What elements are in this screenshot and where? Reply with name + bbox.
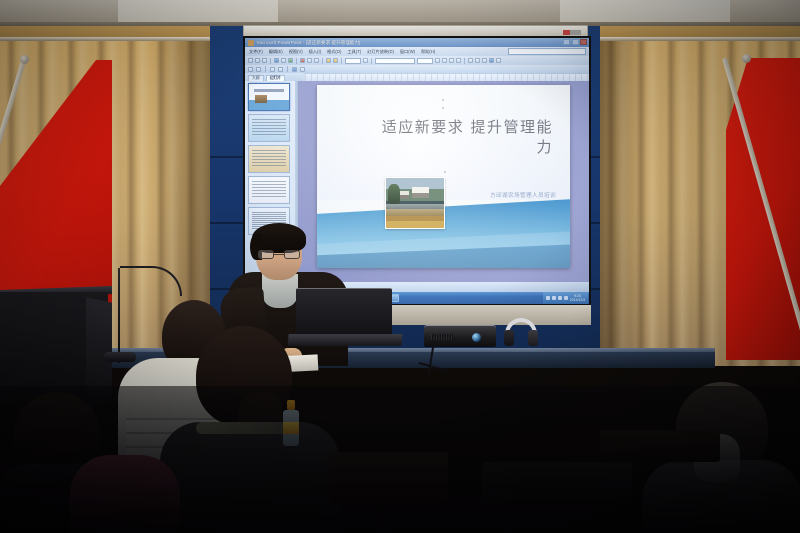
current-slide[interactable]: 适应新要求 提升管理能 力 方邱湖农场管理人员培训 xyxy=(317,85,570,268)
chair-leg xyxy=(378,500,386,533)
audience-member-pink xyxy=(70,455,180,533)
menu-tools[interactable]: 工具(T) xyxy=(347,49,361,55)
chair-back-center xyxy=(330,452,448,504)
slide-thumbnail-2[interactable]: 2 xyxy=(248,114,290,142)
decrease-font-icon[interactable] xyxy=(256,67,261,72)
cut-icon[interactable] xyxy=(300,58,305,63)
window-controls[interactable] xyxy=(563,39,587,45)
design-icon[interactable] xyxy=(300,67,305,72)
align-right-icon[interactable] xyxy=(482,58,487,63)
bullets-icon[interactable] xyxy=(489,58,494,63)
water-bottle xyxy=(283,400,299,446)
menu-edit[interactable]: 编辑(E) xyxy=(269,49,283,55)
font-size-combo[interactable] xyxy=(417,58,433,64)
help-icon[interactable] xyxy=(363,58,368,63)
menu-view[interactable]: 视图(V) xyxy=(289,49,303,55)
standard-toolbar[interactable] xyxy=(245,56,589,65)
open-icon[interactable] xyxy=(255,58,260,63)
powerpoint-app-icon xyxy=(248,40,254,46)
bold-icon[interactable] xyxy=(435,58,440,63)
minimize-button[interactable] xyxy=(563,39,570,45)
print-icon[interactable] xyxy=(274,58,279,63)
projector-vent xyxy=(431,334,453,340)
promote-icon[interactable] xyxy=(270,67,275,72)
clock-date: 2014/12/3 xyxy=(570,298,585,302)
window-title: Microsoft PowerPoint - [适应新要求 提升管理能力] xyxy=(257,40,360,46)
help-search-input[interactable] xyxy=(508,48,586,55)
outline-slide-tabs[interactable]: 大纲 幻灯片 xyxy=(245,73,303,81)
podium-side-panel xyxy=(86,297,112,399)
tray-volume-icon[interactable] xyxy=(552,296,556,300)
align-center-icon[interactable] xyxy=(475,58,480,63)
formatting-toolbar-row[interactable] xyxy=(245,65,589,73)
chair-back-right xyxy=(482,462,632,508)
menu-slideshow[interactable]: 幻灯片放映(D) xyxy=(367,49,394,55)
numbering-icon[interactable] xyxy=(496,58,501,63)
undo-icon[interactable] xyxy=(326,58,331,63)
save-icon[interactable] xyxy=(262,58,267,63)
menu-format[interactable]: 格式(O) xyxy=(327,49,341,55)
slide-photo[interactable] xyxy=(385,177,445,229)
slide-subtitle-text[interactable]: 方邱湖农场管理人员培训 xyxy=(490,191,556,199)
screenshot-scene: Microsoft PowerPoint - [适应新要求 提升管理能力] 文件… xyxy=(0,0,800,533)
chair-back-far-right xyxy=(600,430,720,462)
redo-icon[interactable] xyxy=(333,58,338,63)
slide-title-text[interactable]: 适应新要求 提升管理能 力 xyxy=(335,117,553,157)
shadow-icon[interactable] xyxy=(456,58,461,63)
new-icon[interactable] xyxy=(248,58,253,63)
underline-icon[interactable] xyxy=(449,58,454,63)
presenter-glasses xyxy=(258,250,300,259)
flag-right xyxy=(726,58,800,360)
projector xyxy=(424,325,496,347)
tray-shield-icon[interactable] xyxy=(558,296,562,300)
slide-thumbnail-4[interactable]: 4 xyxy=(248,176,290,204)
close-button[interactable] xyxy=(580,39,587,45)
paste-icon[interactable] xyxy=(314,58,319,63)
menu-window[interactable]: 窗口(W) xyxy=(400,49,415,55)
tray-network-icon[interactable] xyxy=(546,296,550,300)
print-preview-icon[interactable] xyxy=(281,58,286,63)
italic-icon[interactable] xyxy=(442,58,447,63)
horizontal-ruler xyxy=(305,73,589,81)
increase-font-icon[interactable] xyxy=(248,67,253,72)
zoom-combo[interactable] xyxy=(345,58,361,64)
spellcheck-icon[interactable] xyxy=(288,58,293,63)
tray-input-icon[interactable] xyxy=(564,296,568,300)
menu-help[interactable]: 帮助(H) xyxy=(421,49,435,55)
font-name-combo[interactable] xyxy=(375,58,415,64)
system-tray[interactable]: 9:25 2014/12/3 xyxy=(543,292,588,304)
ceiling-light-panel-right xyxy=(560,0,730,22)
menu-file[interactable]: 文件(F) xyxy=(249,49,263,55)
ceiling-light-panel-left xyxy=(118,0,278,22)
slide-thumbnail-1[interactable]: 1 xyxy=(248,83,290,111)
slide-thumbnail-3[interactable]: 3 xyxy=(248,145,290,173)
new-slide-icon[interactable] xyxy=(292,67,297,72)
align-left-icon[interactable] xyxy=(468,58,473,63)
menu-insert[interactable]: 插入(I) xyxy=(309,49,321,55)
maximize-button[interactable] xyxy=(572,39,579,45)
headphones xyxy=(505,318,537,348)
copy-icon[interactable] xyxy=(307,58,312,63)
window-titlebar: Microsoft PowerPoint - [适应新要求 提升管理能力] xyxy=(245,38,589,47)
demote-icon[interactable] xyxy=(278,67,283,72)
screen-brand-logo xyxy=(563,30,581,35)
taskbar-clock[interactable]: 9:25 2014/12/3 xyxy=(570,294,585,302)
projector-lens xyxy=(472,333,481,342)
